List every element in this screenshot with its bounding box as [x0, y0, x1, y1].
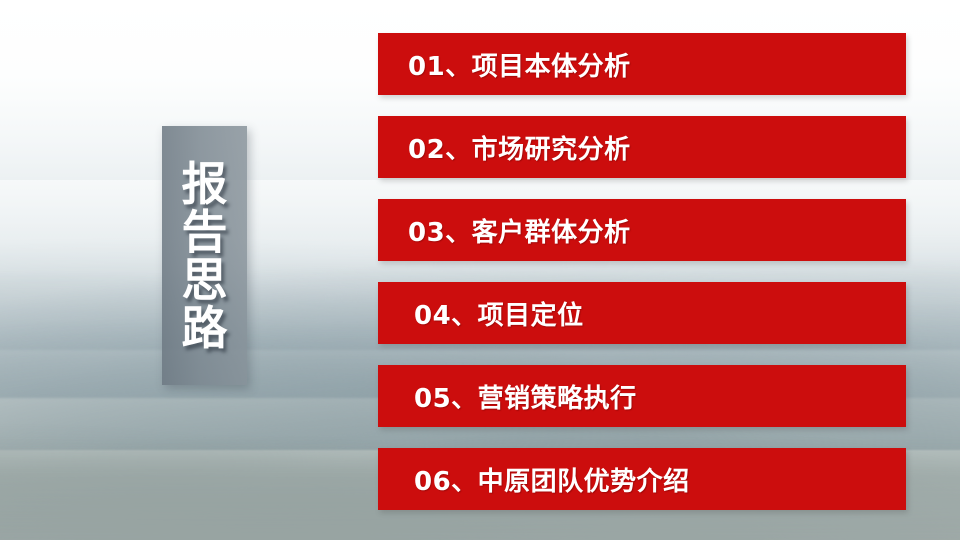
- agenda-item-04[interactable]: 04、项目定位: [378, 282, 906, 344]
- title-char-1: 报: [182, 161, 228, 207]
- vertical-title-panel: 报 告 思 路: [162, 126, 247, 385]
- agenda-item-04-label: 04、项目定位: [378, 295, 584, 332]
- agenda-item-06[interactable]: 06、中原团队优势介绍: [378, 448, 906, 510]
- agenda-item-01[interactable]: 01、项目本体分析: [378, 33, 906, 95]
- title-char-4: 路: [182, 305, 228, 351]
- agenda-item-06-label: 06、中原团队优势介绍: [378, 461, 690, 498]
- agenda-item-05[interactable]: 05、营销策略执行: [378, 365, 906, 427]
- agenda-list: 01、项目本体分析 02、市场研究分析 03、客户群体分析 04、项目定位 05…: [378, 33, 906, 510]
- agenda-item-02-label: 02、市场研究分析: [378, 129, 631, 166]
- agenda-item-03[interactable]: 03、客户群体分析: [378, 199, 906, 261]
- agenda-item-01-label: 01、项目本体分析: [378, 46, 631, 83]
- title-char-2: 告: [182, 209, 228, 255]
- agenda-item-02[interactable]: 02、市场研究分析: [378, 116, 906, 178]
- title-char-3: 思: [182, 257, 228, 303]
- vertical-title-text: 报 告 思 路: [162, 126, 247, 385]
- presentation-slide: 报 告 思 路 01、项目本体分析 02、市场研究分析 03、客户群体分析 04…: [0, 0, 960, 540]
- agenda-item-03-label: 03、客户群体分析: [378, 212, 631, 249]
- agenda-item-05-label: 05、营销策略执行: [378, 378, 637, 415]
